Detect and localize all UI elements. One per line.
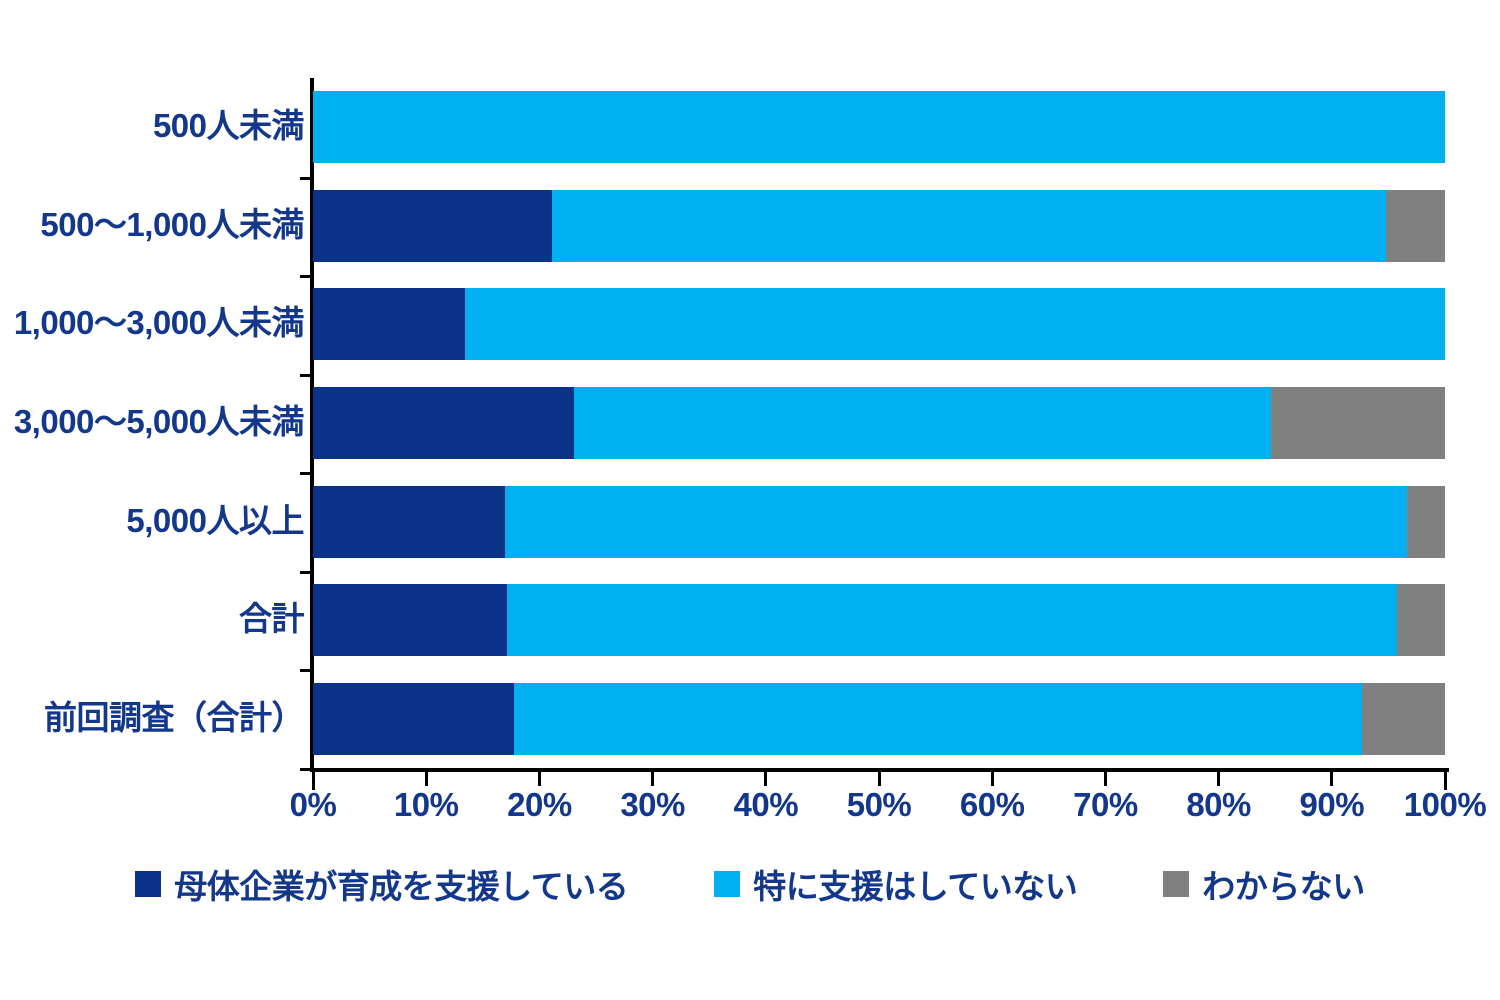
bar-row [313, 91, 1445, 163]
y-axis-tick [300, 571, 310, 574]
category-label: 5,000人以上 [126, 504, 304, 537]
x-axis-tick [538, 772, 541, 786]
bar-segment [313, 288, 465, 360]
legend-swatch-icon [1163, 871, 1189, 897]
y-axis-tick [300, 768, 310, 771]
category-label: 500〜1,000人未満 [40, 208, 304, 241]
x-axis-tick-label: 0% [290, 786, 337, 824]
category-label: 3,000〜5,000人未満 [14, 405, 304, 438]
bar-segment [313, 584, 507, 656]
bar-segment [507, 584, 1398, 656]
x-axis-tick [991, 772, 994, 786]
x-axis-tick [764, 772, 767, 786]
x-axis-tick-label: 100% [1404, 786, 1486, 824]
bar-segment [313, 683, 514, 755]
legend-swatch-icon [714, 871, 740, 897]
bar-segment [1397, 584, 1445, 656]
bar-segment [313, 387, 574, 459]
x-axis-tick-label: 80% [1186, 786, 1251, 824]
bar-row [313, 584, 1445, 656]
legend-swatch-icon [135, 871, 161, 897]
category-label: 合計 [239, 602, 304, 635]
x-axis-tick-label: 50% [847, 786, 912, 824]
bar-segment [465, 288, 1445, 360]
bar-segment [574, 387, 1270, 459]
x-axis-tick [1104, 772, 1107, 786]
x-axis-tick [651, 772, 654, 786]
bar-segment [505, 486, 1406, 558]
x-axis-tick-label: 60% [960, 786, 1025, 824]
legend-label: 特に支援はしていない [753, 860, 1077, 908]
category-label: 前回調査（合計） [44, 701, 304, 734]
bar-row [313, 288, 1445, 360]
legend-label: 母体企業が育成を支援している [174, 860, 628, 908]
y-axis-tick [300, 374, 310, 377]
category-label: 500人未満 [153, 109, 304, 142]
x-axis-tick-label: 10% [394, 786, 459, 824]
x-axis-tick [878, 772, 881, 786]
chart-legend: 母体企業が育成を支援している特に支援はしていないわからない [0, 860, 1500, 908]
x-axis-tick-label: 40% [734, 786, 799, 824]
x-axis-tick [1330, 772, 1333, 786]
x-axis-tick-label: 30% [620, 786, 685, 824]
x-axis-tick [425, 772, 428, 786]
bar-row [313, 683, 1445, 755]
bar-segment [552, 190, 1386, 262]
legend-item[interactable]: 特に支援はしていない [714, 860, 1077, 908]
bar-row [313, 486, 1445, 558]
x-axis-tick-label: 90% [1300, 786, 1365, 824]
bar-segment [1362, 683, 1445, 755]
x-axis-tick [1217, 772, 1220, 786]
bar-row [313, 190, 1445, 262]
stacked-bar-chart: 500人未満500〜1,000人未満1,000〜3,000人未満3,000〜5,… [0, 0, 1500, 1000]
bar-segment [313, 486, 505, 558]
x-axis-tick-label: 20% [507, 786, 572, 824]
bar-segment [313, 190, 552, 262]
x-axis-tick-label: 70% [1073, 786, 1138, 824]
y-axis-tick [300, 472, 310, 475]
legend-item[interactable]: わからない [1163, 860, 1365, 908]
y-axis-tick [300, 669, 310, 672]
bar-segment [1386, 190, 1445, 262]
y-axis-tick [300, 177, 310, 180]
legend-label: わからない [1202, 860, 1365, 908]
bar-segment [514, 683, 1362, 755]
bar-row [313, 387, 1445, 459]
legend-item[interactable]: 母体企業が育成を支援している [135, 860, 628, 908]
bar-segment [1271, 387, 1445, 459]
category-label: 1,000〜3,000人未満 [14, 306, 304, 339]
y-axis-tick [300, 275, 310, 278]
bar-segment [1407, 486, 1445, 558]
bar-segment [313, 91, 1445, 163]
